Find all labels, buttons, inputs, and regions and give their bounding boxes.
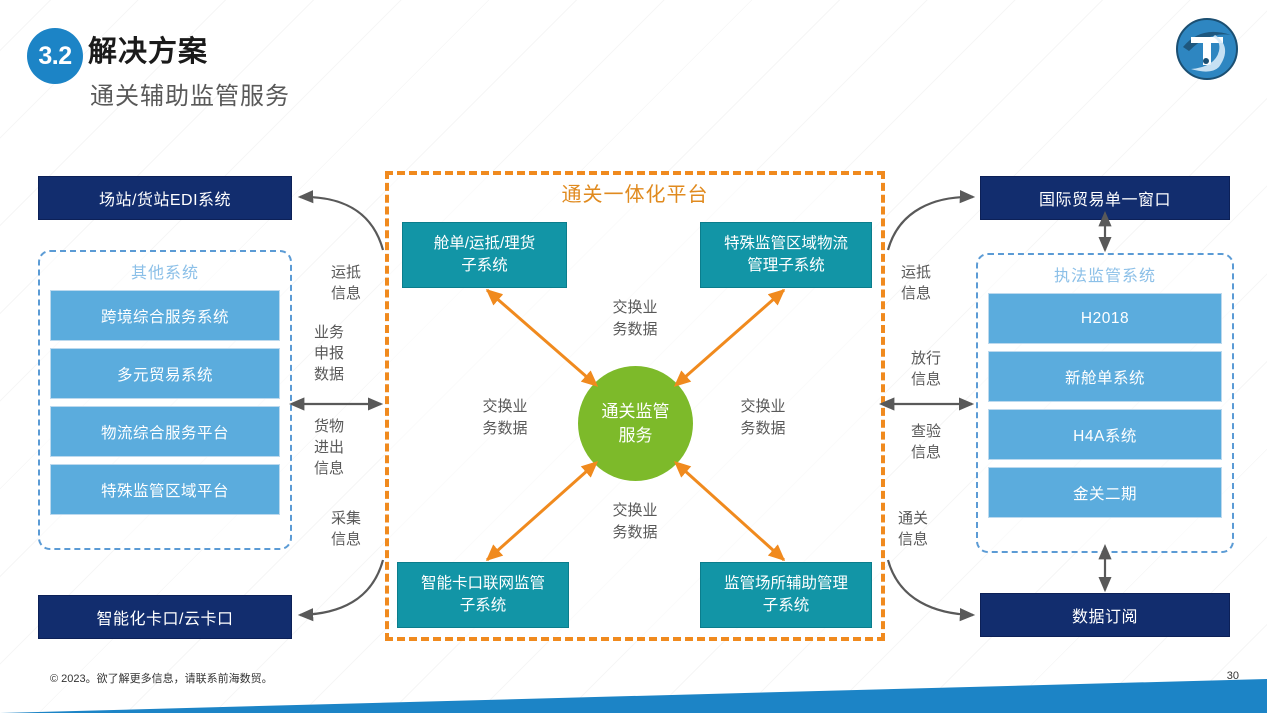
- platform-box-top-left-line2: 子系统: [434, 255, 536, 277]
- exchange-label-right-line2: 务数据: [718, 418, 808, 440]
- platform-box-bottom-left-line1: 智能卡口联网监管: [421, 573, 545, 595]
- left-group-item-1[interactable]: 多元贸易系统: [50, 348, 280, 399]
- left-flow-label-arrival: 运抵 信息: [325, 262, 367, 304]
- right-top-box[interactable]: 国际贸易单一窗口: [980, 176, 1230, 220]
- right-flow-inspection-line2: 信息: [905, 442, 947, 463]
- right-bottom-box[interactable]: 数据订阅: [980, 593, 1230, 637]
- page-subtitle: 通关辅助监管服务: [90, 76, 290, 111]
- hub-line2: 服务: [602, 424, 670, 448]
- exchange-label-left-line1: 交换业: [460, 396, 550, 418]
- left-flow-cargo-line1: 货物: [308, 416, 350, 437]
- bottom-blue-wedge: [0, 679, 1267, 713]
- left-flow-declaration-line1: 业务: [308, 322, 350, 343]
- left-system-group: 其他系统 跨境综合服务系统 多元贸易系统 物流综合服务平台 特殊监管区域平台: [38, 250, 292, 550]
- left-flow-collection-line2: 信息: [325, 529, 367, 550]
- left-flow-cargo-line3: 信息: [308, 458, 350, 479]
- right-flow-label-clearance: 通关 信息: [892, 508, 934, 550]
- page-title: 解决方案: [88, 28, 208, 70]
- left-flow-declaration-line2: 申报: [308, 343, 350, 364]
- exchange-label-bottom-line1: 交换业: [590, 500, 680, 522]
- left-flow-arrival-line1: 运抵: [325, 262, 367, 283]
- right-flow-inspection-line1: 查验: [905, 421, 947, 442]
- left-flow-label-cargo: 货物 进出 信息: [308, 416, 350, 479]
- right-flow-label-arrival: 运抵 信息: [895, 262, 937, 304]
- right-flow-release-line2: 信息: [905, 369, 947, 390]
- right-flow-clearance-line1: 通关: [892, 508, 934, 529]
- right-flow-release-line1: 放行: [905, 348, 947, 369]
- left-flow-collection-line1: 采集: [325, 508, 367, 529]
- left-flow-cargo-line2: 进出: [308, 437, 350, 458]
- exchange-label-bottom: 交换业 务数据: [590, 500, 680, 544]
- exchange-label-left: 交换业 务数据: [460, 396, 550, 440]
- right-group-item-1[interactable]: 新舱单系统: [988, 351, 1222, 402]
- right-group-item-0[interactable]: H2018: [988, 293, 1222, 344]
- platform-box-top-right-line1: 特殊监管区域物流: [724, 233, 848, 255]
- left-flow-label-declaration: 业务 申报 数据: [308, 322, 350, 385]
- platform-box-top-right-line2: 管理子系统: [724, 255, 848, 277]
- right-flow-label-inspection: 查验 信息: [905, 421, 947, 463]
- left-group-title: 其他系统: [40, 259, 290, 283]
- left-flow-arrival-line2: 信息: [325, 283, 367, 304]
- right-group-item-2[interactable]: H4A系统: [988, 409, 1222, 460]
- connector-right-top: [888, 197, 973, 250]
- platform-box-bottom-right-line2: 子系统: [724, 595, 848, 617]
- right-system-group: 执法监管系统 H2018 新舱单系统 H4A系统 金关二期: [976, 253, 1234, 553]
- platform-box-top-left[interactable]: 舱单/运抵/理货 子系统: [402, 222, 567, 288]
- section-number-badge: 3.2: [27, 28, 83, 84]
- right-flow-clearance-line2: 信息: [892, 529, 934, 550]
- exchange-label-top-line2: 务数据: [590, 319, 680, 341]
- company-logo-icon: [1175, 17, 1239, 81]
- exchange-label-top: 交换业 务数据: [590, 297, 680, 341]
- exchange-label-right: 交换业 务数据: [718, 396, 808, 440]
- platform-box-bottom-right[interactable]: 监管场所辅助管理 子系统: [700, 562, 872, 628]
- left-group-item-0[interactable]: 跨境综合服务系统: [50, 290, 280, 341]
- platform-box-bottom-left-line2: 子系统: [421, 595, 545, 617]
- left-bottom-box[interactable]: 智能化卡口/云卡口: [38, 595, 292, 639]
- customs-supervision-hub[interactable]: 通关监管 服务: [578, 366, 693, 481]
- platform-title: 通关一体化平台: [385, 178, 885, 207]
- platform-box-bottom-right-line1: 监管场所辅助管理: [724, 573, 848, 595]
- right-flow-arrival-line2: 信息: [895, 283, 937, 304]
- left-group-item-3[interactable]: 特殊监管区域平台: [50, 464, 280, 515]
- left-top-box[interactable]: 场站/货站EDI系统: [38, 176, 292, 220]
- exchange-label-bottom-line2: 务数据: [590, 522, 680, 544]
- platform-box-top-left-line1: 舱单/运抵/理货: [434, 233, 536, 255]
- connector-left-bottom: [300, 560, 383, 615]
- left-group-item-2[interactable]: 物流综合服务平台: [50, 406, 280, 457]
- left-flow-label-collection: 采集 信息: [325, 508, 367, 550]
- exchange-label-right-line1: 交换业: [718, 396, 808, 418]
- platform-box-top-right[interactable]: 特殊监管区域物流 管理子系统: [700, 222, 872, 288]
- connector-right-bottom: [888, 560, 973, 615]
- exchange-label-top-line1: 交换业: [590, 297, 680, 319]
- exchange-label-left-line2: 务数据: [460, 418, 550, 440]
- slide-canvas: 3.2 解决方案 通关辅助监管服务 场站/货站EDI系统 其他系统 跨境综合服务…: [0, 0, 1267, 713]
- right-flow-arrival-line1: 运抵: [895, 262, 937, 283]
- connector-left-top: [300, 197, 383, 250]
- left-flow-declaration-line3: 数据: [308, 364, 350, 385]
- right-group-title: 执法监管系统: [978, 262, 1232, 286]
- right-group-item-3[interactable]: 金关二期: [988, 467, 1222, 518]
- right-flow-label-release: 放行 信息: [905, 348, 947, 390]
- hub-line1: 通关监管: [602, 400, 670, 424]
- platform-box-bottom-left[interactable]: 智能卡口联网监管 子系统: [397, 562, 569, 628]
